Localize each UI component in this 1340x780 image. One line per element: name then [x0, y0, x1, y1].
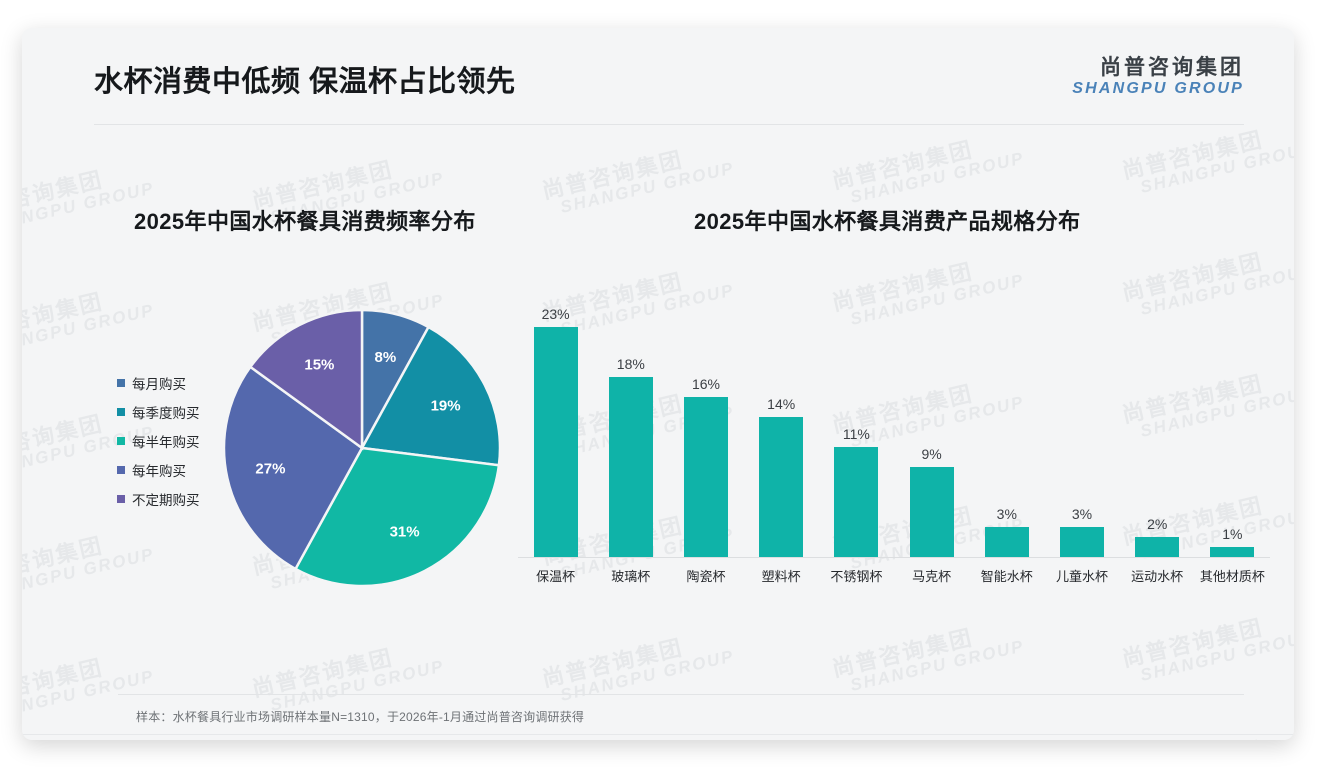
bar-category-label: 不锈钢杯: [819, 566, 894, 585]
pie-legend-item[interactable]: 每半年购买: [117, 426, 200, 455]
pie-legend-label: 每年购买: [132, 460, 186, 480]
pie-slice-label: 8%: [374, 349, 396, 366]
pie-legend-label: 每季度购买: [132, 402, 200, 422]
bar-chart-plot: 23%18%16%14%11%9%3%3%2%1%: [518, 276, 1270, 558]
watermark-text: 尚普咨询集团SHANGPU GROUP: [250, 635, 446, 718]
pie-chart-svg: 8%19%31%27%15%: [222, 308, 502, 588]
bar-value-label: 9%: [921, 446, 941, 462]
bar-column[interactable]: 2%: [1135, 276, 1179, 557]
brand-logo: 尚普咨询集团 SHANGPU GROUP: [1072, 56, 1244, 99]
bar-category-label: 保温杯: [518, 566, 593, 585]
bar-value-label: 11%: [843, 426, 870, 442]
pie-legend-item[interactable]: 不定期购买: [117, 484, 200, 513]
pie-legend-label: 不定期购买: [132, 489, 200, 509]
watermark-text: 尚普咨询集团SHANGPU GROUP: [540, 625, 736, 708]
bar-value-label: 1%: [1222, 526, 1242, 542]
pie-legend-item[interactable]: 每年购买: [117, 455, 200, 484]
bar-rect[interactable]: [834, 447, 878, 557]
bar-rect[interactable]: [684, 397, 728, 557]
bar-rect[interactable]: [910, 467, 954, 557]
watermark-text: 尚普咨询集团SHANGPU GROUP: [1120, 605, 1294, 688]
bar-column[interactable]: 9%: [910, 276, 954, 557]
pie-slice-label: 27%: [255, 460, 285, 477]
pie-legend: 每月购买每季度购买每半年购买每年购买不定期购买: [117, 368, 200, 513]
watermark-text: 尚普咨询集团SHANGPU GROUP: [830, 737, 1026, 740]
pie-chart-title: 2025年中国水杯餐具消费频率分布: [134, 204, 476, 236]
legend-swatch-icon: [117, 466, 125, 474]
bar-value-label: 3%: [997, 506, 1017, 522]
bar-rect[interactable]: [1135, 537, 1179, 557]
bar-chart: 23%18%16%14%11%9%3%3%2%1% 保温杯玻璃杯陶瓷杯塑料杯不锈…: [518, 276, 1270, 596]
footer-divider: [22, 734, 1294, 735]
pie-legend-label: 每半年购买: [132, 431, 200, 451]
bar-column[interactable]: 23%: [534, 276, 578, 557]
bar-column[interactable]: 3%: [1060, 276, 1104, 557]
bar-value-label: 2%: [1147, 516, 1167, 532]
logo-english-text: SHANGPU GROUP: [1072, 80, 1244, 98]
bar-category-label: 儿童水杯: [1044, 566, 1119, 585]
bar-category-label: 玻璃杯: [593, 566, 668, 585]
bar-rect[interactable]: [1060, 527, 1104, 557]
bar-rect[interactable]: [534, 327, 578, 557]
legend-swatch-icon: [117, 495, 125, 503]
bar-rect[interactable]: [985, 527, 1029, 557]
footnote-divider: [118, 694, 1244, 695]
legend-swatch-icon: [117, 408, 125, 416]
bar-column[interactable]: 1%: [1210, 276, 1254, 557]
watermark-text: 尚普咨询集团SHANGPU GROUP: [830, 615, 1026, 698]
bar-category-label: 马克杯: [894, 566, 969, 585]
bar-category-label: 陶瓷杯: [668, 566, 743, 585]
bar-column[interactable]: 3%: [985, 276, 1029, 557]
bar-category-label: 智能水杯: [969, 566, 1044, 585]
bar-rect[interactable]: [1210, 547, 1254, 557]
pie-legend-item[interactable]: 每月购买: [117, 368, 200, 397]
bar-value-label: 14%: [767, 396, 795, 412]
bar-chart-title: 2025年中国水杯餐具消费产品规格分布: [694, 204, 1081, 236]
bar-column[interactable]: 16%: [684, 276, 728, 557]
pie-slice-label: 15%: [304, 356, 334, 373]
pie-legend-item[interactable]: 每季度购买: [117, 397, 200, 426]
bar-chart-axis: [518, 557, 1270, 558]
header-divider: [94, 124, 1244, 125]
legend-swatch-icon: [117, 437, 125, 445]
bar-column[interactable]: 18%: [609, 276, 653, 557]
bar-value-label: 23%: [542, 306, 570, 322]
pie-slice-label: 19%: [431, 397, 461, 414]
bar-rect[interactable]: [609, 377, 653, 557]
sample-footnote: 样本：水杯餐具行业市场调研样本量N=1310，于2026年-1月通过尚普咨询调研…: [136, 708, 584, 725]
pie-slice-label: 31%: [390, 524, 420, 541]
legend-swatch-icon: [117, 379, 125, 387]
slide-header: 水杯消费中低频 保温杯占比领先 尚普咨询集团 SHANGPU GROUP: [22, 28, 1294, 124]
page-title: 水杯消费中低频 保温杯占比领先: [94, 58, 516, 100]
bar-value-label: 16%: [692, 376, 720, 392]
pie-chart: 每月购买每季度购买每半年购买每年购买不定期购买 8%19%31%27%15%: [112, 278, 532, 608]
bar-value-label: 3%: [1072, 506, 1092, 522]
bar-category-label: 其他材质杯: [1195, 566, 1270, 585]
watermark-text: 尚普咨询集团SHANGPU GROUP: [830, 127, 1026, 210]
logo-chinese-text: 尚普咨询集团: [1072, 56, 1244, 80]
bar-column[interactable]: 14%: [759, 276, 803, 557]
watermark-text: 尚普咨询集团SHANGPU GROUP: [1120, 117, 1294, 200]
bar-category-label: 塑料杯: [744, 566, 819, 585]
bar-category-label: 运动水杯: [1120, 566, 1195, 585]
bar-value-label: 18%: [617, 356, 645, 372]
pie-legend-label: 每月购买: [132, 373, 186, 393]
bar-rect[interactable]: [759, 417, 803, 557]
slide-card: 尚普咨询集团SHANGPU GROUP尚普咨询集团SHANGPU GROUP尚普…: [22, 28, 1294, 740]
bar-column[interactable]: 11%: [834, 276, 878, 557]
